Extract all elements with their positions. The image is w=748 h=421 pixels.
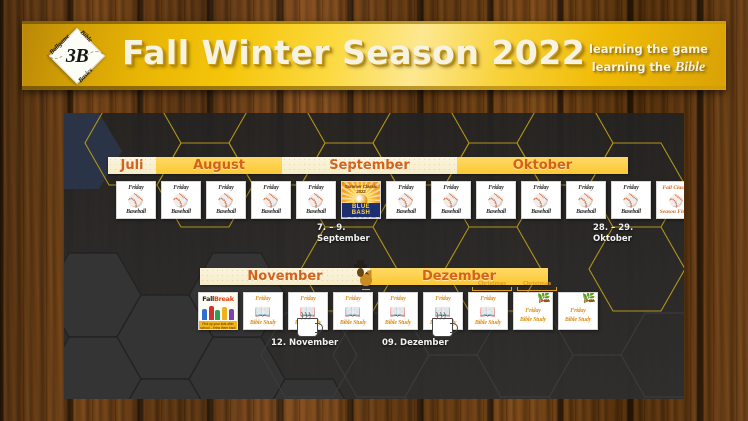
card-line-1: Friday (424, 296, 462, 302)
steam-icon: ))) (301, 312, 312, 320)
caption-line-2: Oktober (593, 234, 633, 245)
card-line-2: Baseball (567, 209, 605, 215)
card-line-2: Baseball (297, 209, 335, 215)
card-footnote: Pick up your kids after school – bring t… (199, 321, 237, 329)
card-line-1: Friday (514, 308, 552, 314)
card-line-2: Baseball (162, 209, 200, 215)
card-line-1: Friday (252, 185, 290, 191)
event-card-friday-baseball[interactable]: Friday ⚾ Baseball (296, 181, 336, 219)
bracket-line (517, 287, 557, 291)
card-line-1: Friday (469, 296, 507, 302)
card-line-1: Friday (387, 185, 425, 191)
card-line-2: BLUE BASH (342, 203, 380, 217)
card-line-2: Baseball (522, 209, 560, 215)
event-card-friday-baseball[interactable]: Friday ⚾ Baseball (386, 181, 426, 219)
tagline-line-2: learning the Bible (589, 58, 708, 78)
christmas-label: Christmas (517, 281, 557, 287)
event-card-friday-baseball[interactable]: Friday ⚾ Baseball (206, 181, 246, 219)
christmas-break-bracket-1: Christmas (472, 281, 512, 291)
card-line-1: Friday (379, 296, 417, 302)
month-segment-juli[interactable]: Juli (108, 157, 156, 174)
card-line-2: Baseball (252, 209, 290, 215)
card-line-1: Friday (162, 185, 200, 191)
caption-line-2: September (317, 234, 370, 245)
event-card-friday-baseball[interactable]: Friday ⚾ Baseball (251, 181, 291, 219)
card-line-1: Fall Classic (657, 185, 684, 191)
card-line-2: Bible Study (559, 317, 597, 323)
turkey-legs (362, 285, 370, 290)
event-card-bible-study-with-coffee[interactable]: Friday 📖 Bible Study ))) (288, 292, 328, 330)
open-book-icon: 📖 (244, 304, 282, 319)
card-line-2: Baseball (387, 209, 425, 215)
event-card-friday-bible-study[interactable]: Friday 📖 Bible Study (468, 292, 508, 330)
event-card-friday-baseball[interactable]: Friday ⚾ Baseball (161, 181, 201, 219)
turkey-head (357, 268, 364, 277)
tagline-line-2-prefix: learning the (592, 60, 671, 74)
caption-line-1: 7. – 9. (317, 223, 370, 234)
tagline: learning the game learning the Bible (589, 41, 708, 78)
event-card-fall-break[interactable]: FallBreak Pick up your kids after school… (198, 292, 238, 330)
caption-november-event: 12. November (271, 338, 338, 349)
event-card-friday-bible-study[interactable]: Friday 📖 Bible Study (333, 292, 373, 330)
season-schedule-panel: Juli August September Oktober Friday ⚾ B… (64, 113, 684, 399)
coffee-mug-icon: ))) (432, 318, 453, 337)
card-line-1: Friday (334, 296, 372, 302)
month-segment-november[interactable]: November (200, 268, 370, 285)
steam-icon: ))) (436, 312, 447, 320)
card-line-1: Friday (297, 185, 335, 191)
turkey-mascot-icon (354, 265, 380, 291)
event-card-row-2: FallBreak Pick up your kids after school… (198, 292, 603, 330)
month-bar-row-1: Juli August September Oktober (108, 157, 628, 174)
event-card-friday-baseball[interactable]: Friday ⚾ Baseball (476, 181, 516, 219)
card-title-part-2: Break (214, 295, 234, 303)
event-card-row-1: Friday ⚾ Baseball Friday ⚾ Baseball Frid… (116, 181, 684, 219)
break-badge: Break (539, 298, 550, 303)
month-segment-oktober[interactable]: Oktober (457, 157, 628, 174)
card-line-1: Friday (559, 308, 597, 314)
caption-line-1: 28. – 29. (593, 223, 633, 234)
event-card-summer-classic[interactable]: Summer Classic 2022 BLUE BASH (341, 181, 381, 219)
brand-logo: 3B Ballgame Bible Basics (46, 25, 108, 87)
baseball-glove-icon: ⚾ (432, 193, 470, 208)
card-line-1: Friday (612, 185, 650, 191)
event-card-christmas-break[interactable]: 🌿 Break Friday Bible Study (558, 292, 598, 330)
card-title: FallBreak (199, 295, 237, 303)
event-card-friday-baseball[interactable]: Friday ⚾ Baseball (566, 181, 606, 219)
bracket-line (472, 287, 512, 291)
card-title-part-1: Fall (202, 295, 214, 303)
open-book-icon: 📖 (469, 304, 507, 319)
card-line-1: Friday (432, 185, 470, 191)
card-line-2: Baseball (477, 209, 515, 215)
caption-dezember-event: 09. Dezember (382, 338, 448, 349)
tagline-bible-word: Bible (675, 60, 705, 75)
event-card-christmas-break[interactable]: 🌿 Break Friday Bible Study (513, 292, 553, 330)
page-title: Fall Winter Season 2022 (122, 33, 585, 72)
card-line-1: Friday (244, 296, 282, 302)
event-card-friday-bible-study[interactable]: Friday 📖 Bible Study (243, 292, 283, 330)
baseball-glove-icon: ⚾ (567, 193, 605, 208)
baseball-glove-icon: ⚾ (117, 193, 155, 208)
baseball-glove-icon: ⚾ (297, 193, 335, 208)
tagline-line-1: learning the game (589, 41, 708, 58)
baseball-glove-icon: ⚾ (387, 193, 425, 208)
pilgrim-hat-icon (354, 264, 367, 268)
baseball-glove-icon: ⚾ (162, 193, 200, 208)
trophy-icon: ⚾ (657, 194, 684, 208)
baseball-glove-icon: ⚾ (207, 193, 245, 208)
kids-illustration (201, 304, 235, 320)
open-book-icon: 📖 (379, 304, 417, 319)
card-line-1: Friday (522, 185, 560, 191)
card-line-1: Friday (477, 185, 515, 191)
event-card-friday-baseball[interactable]: Friday ⚾ Baseball (611, 181, 651, 219)
month-segment-september[interactable]: September (282, 157, 457, 174)
card-line-2: Bible Study (469, 320, 507, 326)
baseball-glove-icon: ⚾ (612, 193, 650, 208)
event-card-friday-baseball[interactable]: Friday ⚾ Baseball (431, 181, 471, 219)
caption-oktober-event: 28. – 29. Oktober (593, 223, 633, 246)
card-line-1: Friday (289, 296, 327, 302)
event-card-bible-study-with-coffee[interactable]: Friday 📖 Bible Study ))) (423, 292, 463, 330)
hexagon-background-pattern (64, 113, 684, 399)
baseball-glove-icon: ⚾ (477, 193, 515, 208)
break-badge: Break (584, 298, 595, 303)
event-card-friday-bible-study[interactable]: Friday 📖 Bible Study (378, 292, 418, 330)
event-card-friday-baseball[interactable]: Friday ⚾ Baseball (116, 181, 156, 219)
month-segment-august[interactable]: August (156, 157, 282, 174)
card-line-2: Baseball (117, 209, 155, 215)
card-line-1: Summer Classic 2022 (342, 184, 380, 194)
hex-accent-blue (64, 113, 122, 189)
christmas-break-bracket-2: Christmas (517, 281, 557, 291)
card-line-1: Friday (207, 185, 245, 191)
card-line-2: Bible Study (514, 317, 552, 323)
card-line-2: Baseball (207, 209, 245, 215)
card-line-2: Baseball (432, 209, 470, 215)
baseball-glove-icon: ⚾ (252, 193, 290, 208)
christmas-label: Christmas (472, 281, 512, 287)
card-line-2: Bible Study (244, 320, 282, 326)
card-line-2: Bible Study (379, 320, 417, 326)
card-line-2: Season Finale (657, 209, 684, 215)
card-line-2: Baseball (612, 209, 650, 215)
header-banner: 3B Ballgame Bible Basics Fall Winter Sea… (22, 21, 726, 90)
baseball-glove-icon: ⚾ (522, 193, 560, 208)
card-line-1: Friday (567, 185, 605, 191)
open-book-icon: 📖 (334, 304, 372, 319)
card-line-2: Bible Study (334, 320, 372, 326)
card-line-1: Friday (117, 185, 155, 191)
event-card-fall-classic[interactable]: Fall Classic ⚾ Season Finale (656, 181, 684, 219)
caption-september-event: 7. – 9. September (317, 223, 370, 246)
coffee-mug-icon: ))) (297, 318, 318, 337)
event-card-friday-baseball[interactable]: Friday ⚾ Baseball (521, 181, 561, 219)
